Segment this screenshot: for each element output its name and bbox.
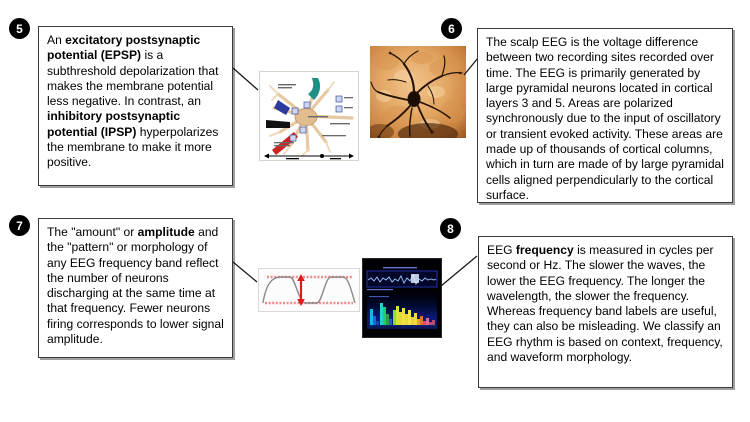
neuron-diagram-svg <box>260 72 358 160</box>
panel-6-text: The scalp EEG is the voltage difference … <box>486 35 724 202</box>
micrograph-svg <box>370 46 466 138</box>
panel-5-text: An excitatory postsynaptic potential (EP… <box>47 33 218 169</box>
panel-8-badge: 8 <box>440 218 461 239</box>
panel-5-callout: An excitatory postsynaptic potential (EP… <box>38 26 233 186</box>
panel-6-badge: 6 <box>441 18 462 39</box>
panel-7-connector-line <box>233 258 261 288</box>
panel-7-badge: 7 <box>9 215 30 236</box>
panel-8-text: EEG frequency is measured in cycles per … <box>487 243 723 364</box>
panel-8-callout: EEG frequency is measured in cycles per … <box>478 236 733 388</box>
eeg-spectrogram-display <box>362 258 442 338</box>
golgi-stained-pyramidal-neuron-micrograph <box>370 46 466 138</box>
panel-7-callout: The "amount" or amplitude and the "patte… <box>38 218 233 358</box>
panel-5-badge: 5 <box>9 18 30 39</box>
panel-7-text: The "amount" or amplitude and the "patte… <box>47 225 224 346</box>
panel-6-callout: The scalp EEG is the voltage difference … <box>477 28 733 203</box>
sine-wave-svg <box>259 269 359 311</box>
panel-8-connector-line <box>441 252 479 288</box>
neuron-synapse-diagram <box>259 71 359 161</box>
slide-canvas: 5 An excitatory postsynaptic potential (… <box>0 0 750 422</box>
spectrogram-svg <box>363 259 441 337</box>
sine-wave-amplitude-diagram <box>258 268 360 312</box>
